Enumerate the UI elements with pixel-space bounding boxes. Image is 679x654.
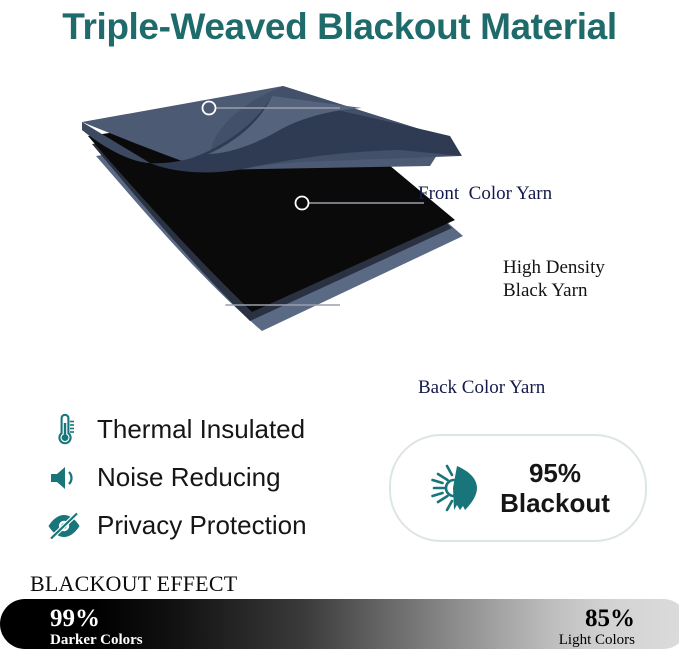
callout-label-front-color-yarn: Front Color Yarn bbox=[418, 182, 552, 205]
light-colors-label: Light Colors bbox=[559, 631, 635, 649]
bar-stat-light-colors: 85% Light Colors bbox=[559, 606, 635, 649]
feature-thermal-insulated: Thermal Insulated bbox=[46, 408, 376, 451]
blackout-effect-heading: BLACKOUT EFFECT bbox=[30, 571, 237, 597]
bar-stat-darker-colors: 99% Darker Colors bbox=[50, 606, 143, 649]
badge-text: 95% Blackout bbox=[500, 458, 610, 518]
fabric-layers-diagram: Front Color Yarn High DensityBlack Yarn … bbox=[0, 78, 679, 348]
callout-label-black-yarn: High DensityBlack Yarn bbox=[503, 256, 605, 302]
eye-slash-icon bbox=[46, 508, 82, 544]
features-list: Thermal Insulated Noise Reducing Privacy… bbox=[46, 408, 376, 552]
feature-noise-reducing: Noise Reducing bbox=[46, 456, 376, 499]
feature-label-noise-reducing: Noise Reducing bbox=[97, 462, 281, 493]
callout-black-line2: Black Yarn bbox=[503, 280, 587, 301]
page-title: Triple-Weaved Blackout Material bbox=[0, 6, 679, 48]
badge-label: Blackout bbox=[500, 488, 610, 518]
speaker-icon bbox=[46, 460, 82, 496]
feature-label-privacy-protection: Privacy Protection bbox=[97, 510, 307, 541]
sun-blocked-icon bbox=[426, 457, 488, 519]
light-colors-percent: 85% bbox=[559, 606, 635, 631]
darker-colors-percent: 99% bbox=[50, 606, 143, 631]
feature-label-thermal-insulated: Thermal Insulated bbox=[97, 414, 305, 445]
blackout-badge: 95% Blackout bbox=[389, 434, 647, 542]
fabric-layers-illustration bbox=[0, 78, 679, 348]
feature-privacy-protection: Privacy Protection bbox=[46, 504, 376, 547]
callout-black-line1: High Density bbox=[503, 257, 605, 278]
callout-label-back-color-yarn: Back Color Yarn bbox=[418, 376, 545, 399]
thermometer-icon bbox=[46, 412, 82, 448]
badge-percent: 95% bbox=[529, 458, 581, 488]
darker-colors-label: Darker Colors bbox=[50, 631, 143, 649]
